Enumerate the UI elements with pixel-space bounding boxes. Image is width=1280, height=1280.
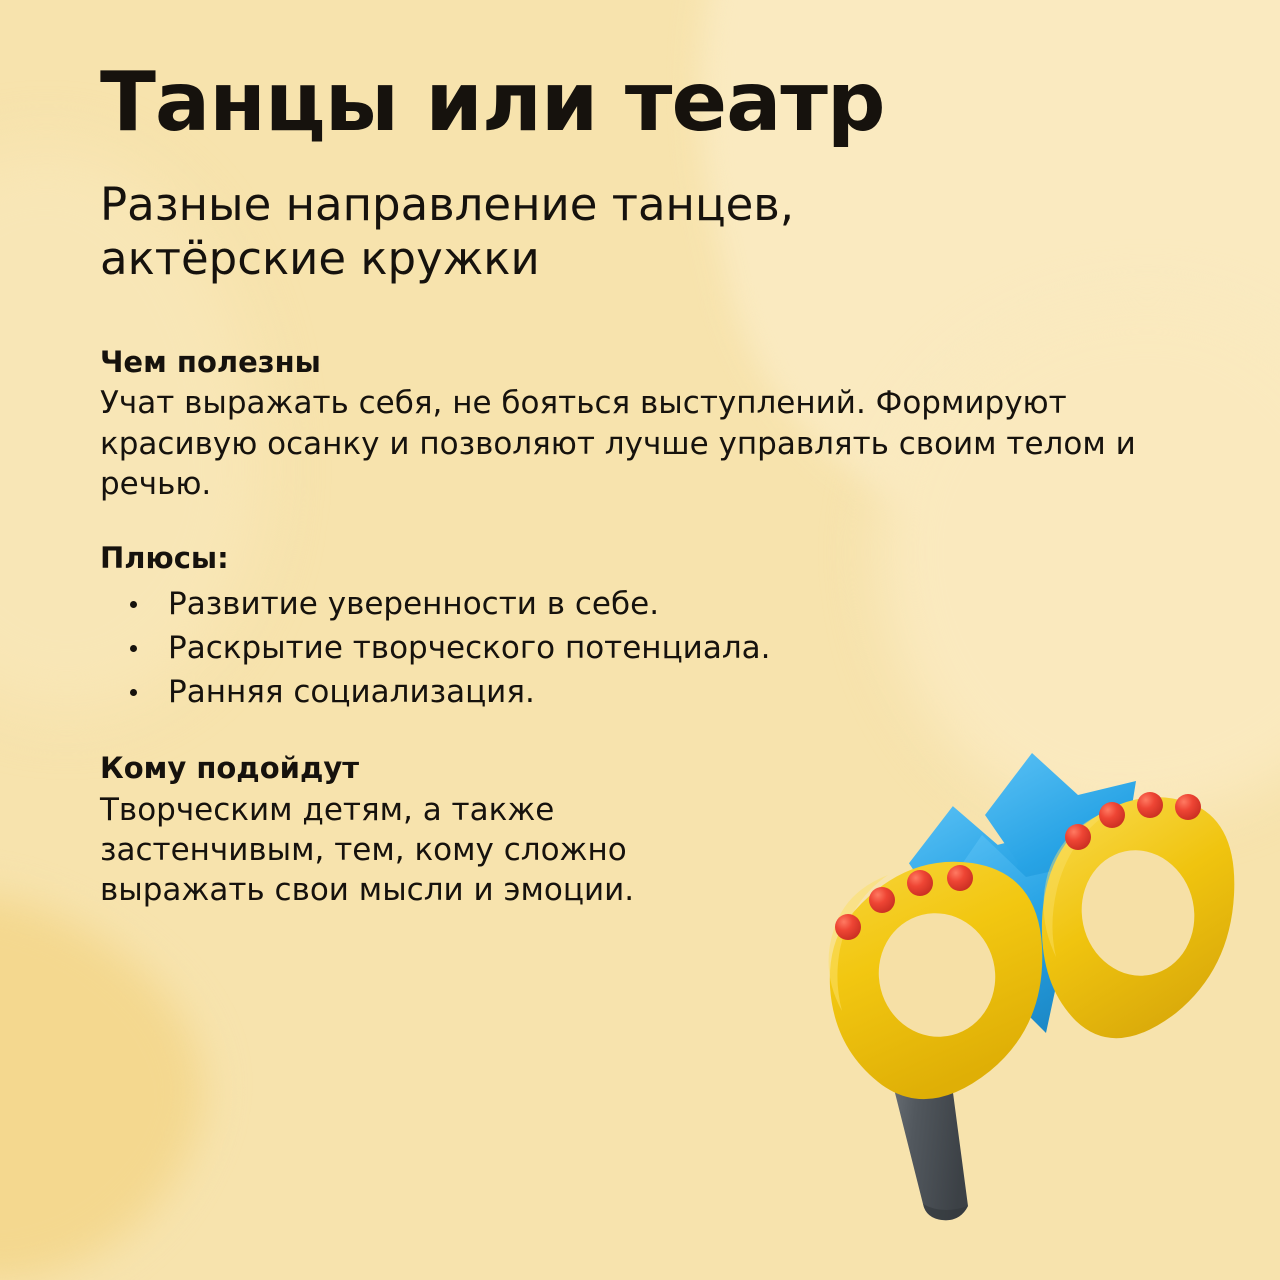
section-pros-heading: Плюсы: (100, 540, 1230, 576)
pros-list: Развитие уверенности в себе. Раскрытие т… (100, 582, 1230, 714)
list-item: Развитие уверенности в себе. (100, 582, 1230, 626)
list-item: Раскрытие творческого потенциала. (100, 626, 1230, 670)
promo-card: Танцы или театр Разные направление танце… (0, 0, 1280, 1280)
section-benefits-body: Учат выражать себя, не бояться выступлен… (100, 383, 1210, 504)
section-audience: Кому подойдут Творческим детям, а также … (100, 750, 1230, 910)
page-subtitle: Разные направление танцев, актёрские кру… (100, 178, 890, 286)
section-audience-body: Творческим детям, а также застенчивым, т… (100, 790, 740, 911)
section-audience-heading: Кому подойдут (100, 750, 1230, 786)
section-benefits: Чем полезны Учат выражать себя, не боять… (100, 344, 1230, 504)
section-benefits-heading: Чем полезны (100, 344, 1230, 380)
page-title: Танцы или театр (100, 62, 1230, 144)
list-item: Ранняя социализация. (100, 670, 1230, 714)
section-pros: Плюсы: Развитие уверенности в себе. Раск… (100, 540, 1230, 714)
card-content: Танцы или театр Разные направление танце… (100, 62, 1230, 911)
